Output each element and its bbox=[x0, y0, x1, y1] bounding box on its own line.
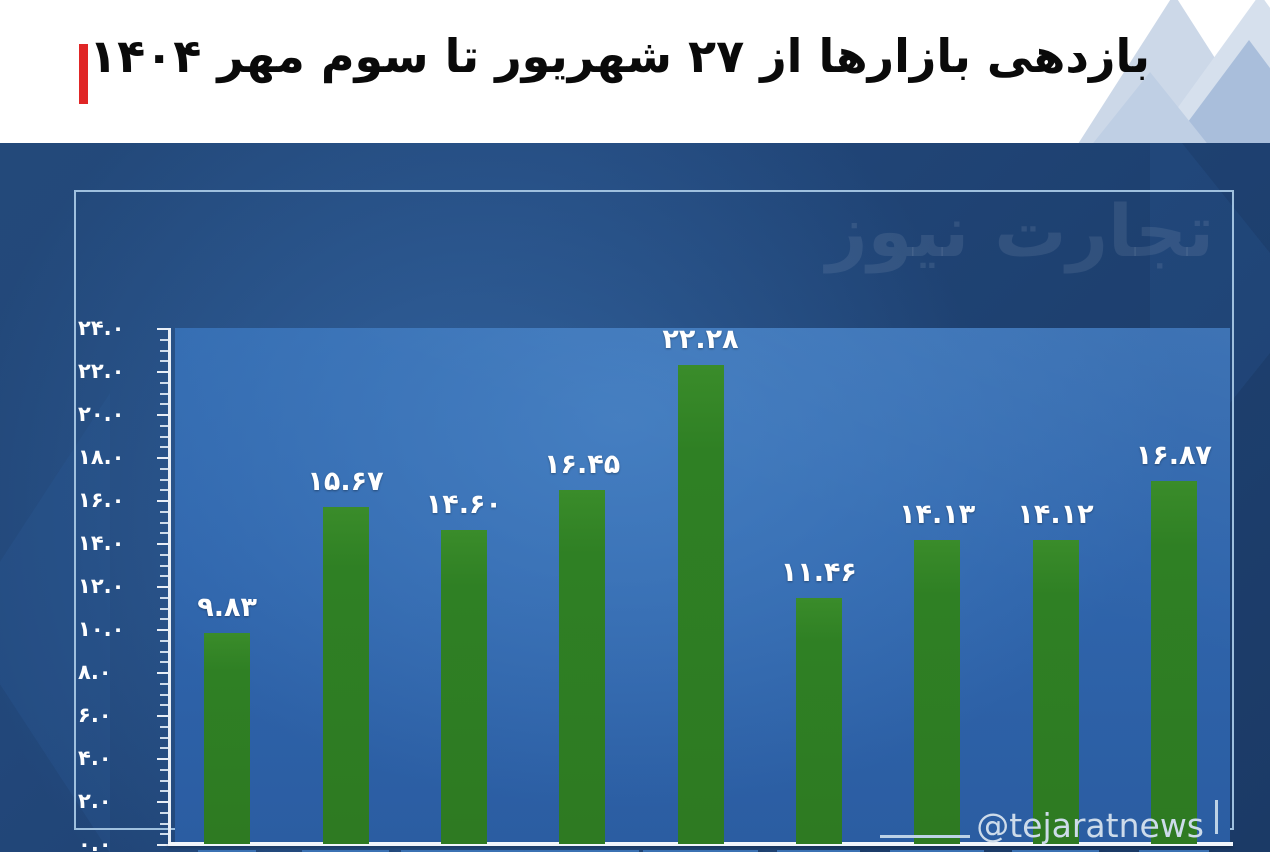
chart-infographic: بازدهی بازارها از ۲۷ شهریور تا سوم مهر ۱… bbox=[0, 0, 1270, 852]
y-axis-tick-label: ۱۲.۰ bbox=[78, 574, 162, 598]
y-axis-minor-tick bbox=[160, 522, 168, 524]
y-axis-tick-label: ۶.۰ bbox=[78, 703, 162, 727]
y-axis-labels: ۲۴.۰۲۲.۰۲۰.۰۱۸.۰۱۶.۰۱۴.۰۱۲.۰۱۰.۰۸.۰۶.۰۴.… bbox=[70, 328, 162, 844]
y-axis-minor-tick bbox=[160, 554, 168, 556]
y-axis-minor-tick bbox=[160, 393, 168, 395]
y-axis-minor-tick bbox=[160, 661, 168, 663]
bar-value-label: ۱۴.۶۰ bbox=[426, 489, 502, 520]
y-axis-minor-tick bbox=[160, 436, 168, 438]
y-axis-minor-tick bbox=[160, 640, 168, 642]
y-axis-minor-tick bbox=[160, 565, 168, 567]
y-axis-tick-label: ۸.۰ bbox=[78, 660, 162, 684]
bar-group: ۹.۸۳ bbox=[168, 328, 286, 844]
y-axis-tick-label: ۲۰.۰ bbox=[78, 402, 162, 426]
y-axis-tick bbox=[157, 715, 168, 717]
y-axis-minor-tick bbox=[160, 608, 168, 610]
y-axis-tick bbox=[157, 672, 168, 674]
bar bbox=[1151, 481, 1197, 844]
social-handle: @tejaratnews bbox=[976, 806, 1204, 845]
bar-series: ۹.۸۳۱۵.۶۷۱۴.۶۰۱۶.۴۵۲۲.۲۸۱۱.۴۶۱۴.۱۳۱۴.۱۲۱… bbox=[168, 328, 1233, 844]
y-axis-minor-tick bbox=[160, 360, 168, 362]
y-axis-tick bbox=[157, 629, 168, 631]
y-axis-minor-tick bbox=[160, 511, 168, 513]
y-axis-minor-tick bbox=[160, 651, 168, 653]
page-title: بازدهی بازارها از ۲۷ شهریور تا سوم مهر ۱… bbox=[100, 22, 1150, 91]
y-axis-minor-tick bbox=[160, 694, 168, 696]
y-axis-tick bbox=[157, 500, 168, 502]
y-axis-minor-tick bbox=[160, 726, 168, 728]
title-accent-rule bbox=[79, 44, 88, 104]
y-axis-minor-tick bbox=[160, 468, 168, 470]
header-band: بازدهی بازارها از ۲۷ شهریور تا سوم مهر ۱… bbox=[0, 0, 1270, 143]
y-axis-minor-tick bbox=[160, 479, 168, 481]
y-axis-tick-label: ۱۸.۰ bbox=[78, 445, 162, 469]
y-axis-minor-tick bbox=[160, 575, 168, 577]
bar-group: ۱۴.۶۰ bbox=[405, 328, 523, 844]
bar bbox=[1033, 540, 1079, 844]
y-axis-tick-label: ۱۴.۰ bbox=[78, 531, 162, 555]
y-axis-tick-label: ۱۰.۰ bbox=[78, 617, 162, 641]
bar-group: ۱۶.۴۵ bbox=[523, 328, 641, 844]
y-axis-minor-tick bbox=[160, 489, 168, 491]
bar bbox=[323, 507, 369, 844]
bar bbox=[796, 598, 842, 844]
y-axis-minor-tick bbox=[160, 737, 168, 739]
bar-group: ۱۴.۱۲ bbox=[997, 328, 1115, 844]
bar-value-label: ۱۶.۸۷ bbox=[1136, 440, 1212, 471]
y-axis-minor-tick bbox=[160, 704, 168, 706]
y-axis-minor-tick bbox=[160, 339, 168, 341]
bar bbox=[559, 490, 605, 844]
handle-rule bbox=[880, 835, 970, 838]
y-axis-tick bbox=[157, 758, 168, 760]
bar bbox=[678, 365, 724, 844]
watermark-text: تجارت نیوز bbox=[826, 189, 1214, 273]
y-axis-tick bbox=[157, 801, 168, 803]
bar-value-label: ۱۶.۴۵ bbox=[544, 449, 620, 480]
bar bbox=[204, 633, 250, 844]
y-axis-minor-tick bbox=[160, 823, 168, 825]
bar-value-label: ۱۴.۱۲ bbox=[1017, 499, 1093, 530]
y-axis-tick-label: ۲۲.۰ bbox=[78, 359, 162, 383]
y-axis-minor-tick bbox=[160, 769, 168, 771]
y-axis-minor-tick bbox=[160, 780, 168, 782]
y-axis-minor-tick bbox=[160, 812, 168, 814]
y-axis-tick bbox=[157, 457, 168, 459]
y-axis-tick bbox=[157, 414, 168, 416]
y-axis-minor-tick bbox=[160, 425, 168, 427]
y-axis-minor-tick bbox=[160, 747, 168, 749]
bar-value-label: ۲۲.۲۸ bbox=[662, 324, 738, 355]
bar-value-label: ۱۴.۱۳ bbox=[899, 499, 975, 530]
y-axis-tick bbox=[157, 371, 168, 373]
y-axis-tick-label: ۲.۰ bbox=[78, 789, 162, 813]
y-axis-minor-tick bbox=[160, 382, 168, 384]
bar-value-label: ۱۵.۶۷ bbox=[307, 466, 383, 497]
y-axis-minor-tick bbox=[160, 532, 168, 534]
y-axis-minor-tick bbox=[160, 683, 168, 685]
bar-group: ۲۲.۲۸ bbox=[642, 328, 760, 844]
y-axis-minor-tick bbox=[160, 833, 168, 835]
y-axis-tick-label: ۲۴.۰ bbox=[78, 316, 162, 340]
bar-value-label: ۱۱.۴۶ bbox=[781, 557, 857, 588]
bar bbox=[914, 540, 960, 844]
y-axis-tick bbox=[157, 328, 168, 330]
y-axis-minor-tick bbox=[160, 790, 168, 792]
y-axis-tick bbox=[157, 844, 168, 846]
bar-group: ۱۶.۸۷ bbox=[1115, 328, 1233, 844]
bar-group: ۱۴.۱۳ bbox=[878, 328, 996, 844]
y-axis-tick-label: ۴.۰ bbox=[78, 746, 162, 770]
y-axis-minor-tick bbox=[160, 350, 168, 352]
bar bbox=[441, 530, 487, 844]
chart-panel: تجارت نیوز ۲۴.۰۲۲.۰۲۰.۰۱۸.۰۱۶.۰۱۴.۰۱۲.۰۱… bbox=[0, 143, 1270, 852]
handle-end-rule bbox=[1215, 800, 1218, 834]
y-axis-tick-label: ۱۶.۰ bbox=[78, 488, 162, 512]
bar-value-label: ۹.۸۳ bbox=[197, 592, 257, 623]
y-axis-tick bbox=[157, 586, 168, 588]
y-axis-minor-tick bbox=[160, 403, 168, 405]
y-axis-minor-tick bbox=[160, 618, 168, 620]
y-axis-minor-tick bbox=[160, 597, 168, 599]
y-axis-tick-label: ۰.۰ bbox=[78, 832, 162, 852]
y-axis-tick bbox=[157, 543, 168, 545]
bar-group: ۱۵.۶۷ bbox=[287, 328, 405, 844]
bar-group: ۱۱.۴۶ bbox=[760, 328, 878, 844]
y-axis-minor-tick bbox=[160, 446, 168, 448]
